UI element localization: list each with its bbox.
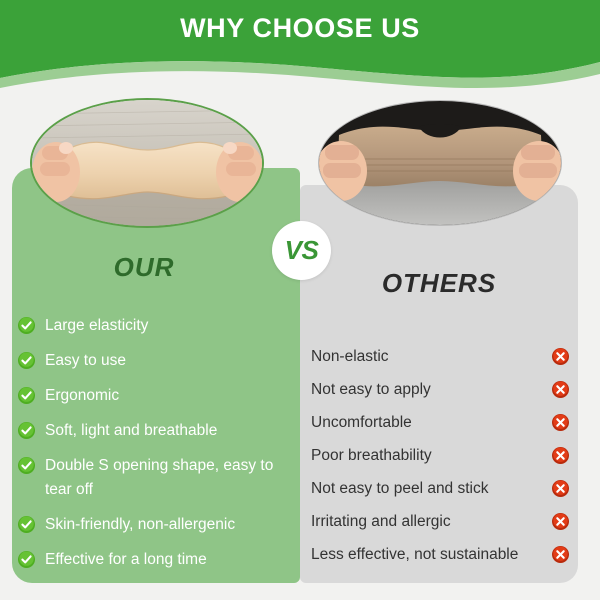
cross-circle-icon: [552, 348, 569, 365]
others-drawbacks-list: Non-elastic Not easy to apply Uncomforta…: [311, 340, 569, 571]
cross-circle-icon: [552, 513, 569, 530]
list-item-label: Soft, light and breathable: [45, 419, 217, 443]
list-item: Soft, light and breathable: [18, 419, 290, 443]
others-product-photo: [318, 100, 562, 226]
list-item: Easy to use: [18, 349, 290, 373]
list-item-label: Not easy to peel and stick: [311, 480, 489, 498]
cross-circle-icon: [552, 480, 569, 497]
list-item: Skin-friendly, non-allergenic: [18, 513, 290, 537]
cross-circle-icon: [552, 447, 569, 464]
list-item-label: Poor breathability: [311, 447, 432, 465]
list-item-label: Easy to use: [45, 349, 126, 373]
hands-holding-tan-patch-photo: [319, 101, 561, 225]
list-item-label: Ergonomic: [45, 384, 119, 408]
list-item: Less effective, not sustainable: [311, 538, 569, 571]
check-circle-icon: [18, 387, 35, 404]
list-item-label: Effective for a long time: [45, 548, 207, 572]
check-circle-icon: [18, 516, 35, 533]
list-item: Uncomfortable: [311, 406, 569, 439]
list-item-label: Less effective, not sustainable: [311, 546, 518, 564]
cross-circle-icon: [552, 381, 569, 398]
our-benefits-list: Large elasticity Easy to use Ergonomic: [18, 314, 290, 583]
list-item-label: Not easy to apply: [311, 381, 431, 399]
others-heading: OTHERS: [300, 268, 578, 299]
list-item-label: Irritating and allergic: [311, 513, 451, 531]
header-banner: WHY CHOOSE US: [0, 0, 600, 92]
list-item: Not easy to peel and stick: [311, 472, 569, 505]
our-product-photo: [30, 98, 264, 228]
list-item: Poor breathability: [311, 439, 569, 472]
check-circle-icon: [18, 317, 35, 334]
our-heading: OUR: [0, 252, 288, 283]
list-item-label: Double S opening shape, easy to tear off: [45, 454, 290, 502]
check-circle-icon: [18, 352, 35, 369]
vs-label: VS: [285, 235, 319, 266]
check-circle-icon: [18, 422, 35, 439]
check-circle-icon: [18, 457, 35, 474]
list-item: Not easy to apply: [311, 373, 569, 406]
list-item: Large elasticity: [18, 314, 290, 338]
cross-circle-icon: [552, 546, 569, 563]
list-item-label: Non-elastic: [311, 348, 389, 366]
cross-circle-icon: [552, 414, 569, 431]
hands-stretching-beige-patch-photo: [32, 100, 264, 228]
list-item: Ergonomic: [18, 384, 290, 408]
check-circle-icon: [18, 551, 35, 568]
list-item: Non-elastic: [311, 340, 569, 373]
list-item-label: Large elasticity: [45, 314, 148, 338]
page-title: WHY CHOOSE US: [0, 13, 600, 44]
list-item: Effective for a long time: [18, 548, 290, 572]
list-item: Irritating and allergic: [311, 505, 569, 538]
list-item-label: Uncomfortable: [311, 414, 412, 432]
list-item-label: Skin-friendly, non-allergenic: [45, 513, 235, 537]
list-item: Double S opening shape, easy to tear off: [18, 454, 290, 502]
